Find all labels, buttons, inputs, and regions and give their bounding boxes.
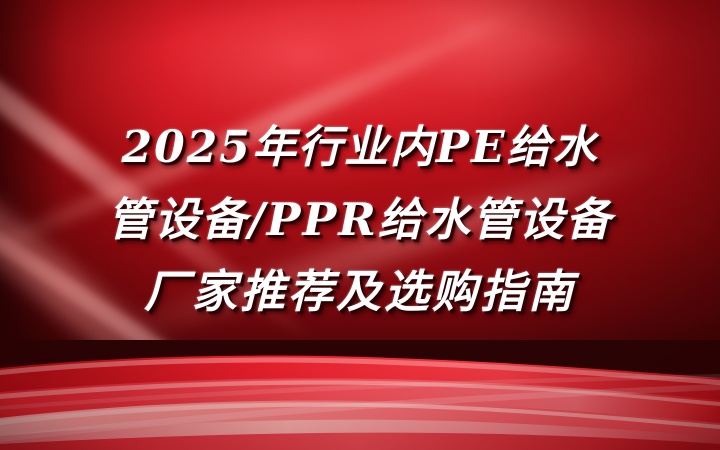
title-line-3: 厂家推荐及选购指南 (0, 256, 720, 328)
bottom-wave-decoration (0, 340, 720, 450)
promo-banner: 2025年行业内PE给水 管设备/PPR给水管设备 厂家推荐及选购指南 (0, 0, 720, 450)
title-line-1: 2025年行业内PE给水 (0, 112, 720, 184)
title-line-2: 管设备/PPR给水管设备 (0, 184, 720, 256)
banner-title-block: 2025年行业内PE给水 管设备/PPR给水管设备 厂家推荐及选购指南 (0, 112, 720, 328)
